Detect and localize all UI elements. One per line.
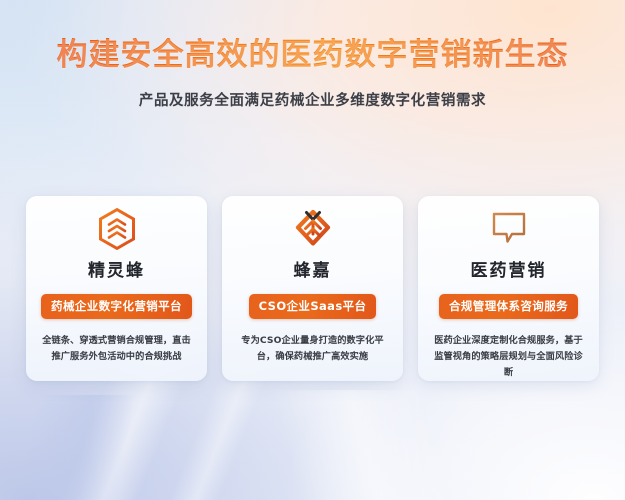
page-subtitle: 产品及服务全面满足药械企业多维度数字化营销需求 [0,89,625,110]
product-card-fengjia[interactable]: 蜂嘉 CSO企业Saas平台 专为CSO企业量身打造的数字化平台，确保药械推广高… [222,196,403,381]
product-card-description: 全链条、穿透式营销合规管理，直击推广服务外包活动中的合规挑战 [42,333,192,365]
product-card-title: 蜂嘉 [294,256,332,281]
product-card-badge: 合规管理体系咨询服务 [439,294,578,319]
product-card-badge: CSO企业Saas平台 [249,294,377,319]
product-card-list: 精灵蜂 药械企业数字化营销平台 全链条、穿透式营销合规管理，直击推广服务外包活动… [26,196,599,381]
decorative-light-streak [60,360,360,500]
diamond-arrows-icon [293,207,333,251]
hero-text-block: 构建安全高效的医药数字营销新生态 产品及服务全面满足药械企业多维度数字化营销需求 [0,38,625,110]
product-card-description: 专为CSO企业量身打造的数字化平台，确保药械推广高效实施 [238,333,388,365]
marketing-poster: 构建安全高效的医药数字营销新生态 产品及服务全面满足药械企业多维度数字化营销需求 [0,0,625,500]
page-title: 构建安全高效的医药数字营销新生态 [0,38,625,72]
product-card-description: 医药企业深度定制化合规服务，基于监管视角的策略层规划与全面风险诊断 [434,333,584,381]
speech-bubble-icon [489,207,529,251]
hexagon-bee-icon [98,207,136,251]
product-card-title: 精灵蜂 [88,256,145,281]
decorative-light-streak [150,390,570,500]
decorative-light-streak [0,395,170,500]
product-card-title: 医药营销 [471,256,547,281]
product-card-badge: 药械企业数字化营销平台 [41,294,192,319]
product-card-jinglingfeng[interactable]: 精灵蜂 药械企业数字化营销平台 全链条、穿透式营销合规管理，直击推广服务外包活动… [26,196,207,381]
product-card-pharma-marketing[interactable]: 医药营销 合规管理体系咨询服务 医药企业深度定制化合规服务，基于监管视角的策略层… [418,196,599,381]
